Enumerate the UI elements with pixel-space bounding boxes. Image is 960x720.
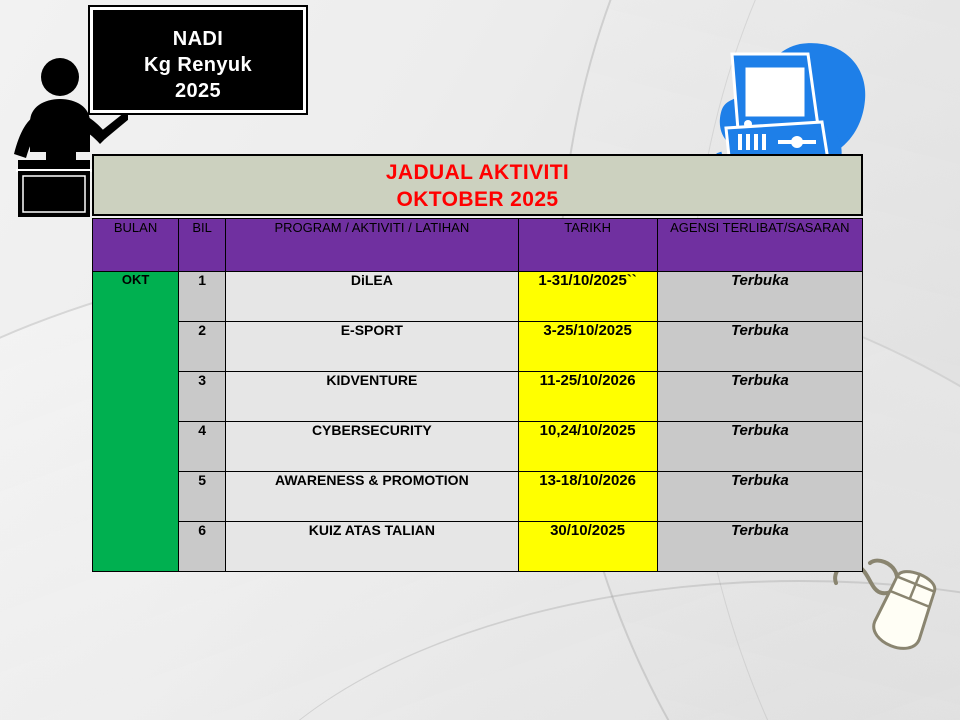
- cell-date: 30/10/2025: [518, 522, 657, 572]
- cell-program: E-SPORT: [226, 322, 518, 372]
- cell-bil: 3: [179, 372, 226, 422]
- activity-schedule-table: BULAN BIL PROGRAM / AKTIVITI / LATIHAN T…: [92, 218, 863, 572]
- table-header-row: BULAN BIL PROGRAM / AKTIVITI / LATIHAN T…: [93, 219, 863, 272]
- schedule-title-bar: JADUAL AKTIVITI OKTOBER 2025: [92, 154, 863, 216]
- blackboard-sign: NADI Kg Renyuk 2025: [90, 7, 306, 113]
- cell-program: KIDVENTURE: [226, 372, 518, 422]
- cell-date: 3-25/10/2025: [518, 322, 657, 372]
- cell-date: 11-25/10/2026: [518, 372, 657, 422]
- cell-agency: Terbuka: [657, 372, 862, 422]
- cell-program: KUIZ ATAS TALIAN: [226, 522, 518, 572]
- cell-date: 10,24/10/2025: [518, 422, 657, 472]
- table-row: 4 CYBERSECURITY 10,24/10/2025 Terbuka: [93, 422, 863, 472]
- cell-date: 1-31/10/2025``: [518, 272, 657, 322]
- blackboard-line-1: NADI: [93, 26, 303, 52]
- table-body: OKT 1 DiLEA 1-31/10/2025`` Terbuka 2 E-S…: [93, 272, 863, 572]
- cell-program: AWARENESS & PROMOTION: [226, 472, 518, 522]
- cell-agency: Terbuka: [657, 322, 862, 372]
- blackboard-line-3: 2025: [93, 78, 303, 104]
- cell-bil: 5: [179, 472, 226, 522]
- header-bil: BIL: [179, 219, 226, 272]
- cell-date: 13-18/10/2026: [518, 472, 657, 522]
- schedule-title-line-1: JADUAL AKTIVITI: [386, 159, 569, 186]
- schedule-title-line-2: OKTOBER 2025: [397, 186, 559, 213]
- cell-agency: Terbuka: [657, 272, 862, 322]
- header-program: PROGRAM / AKTIVITI / LATIHAN: [226, 219, 518, 272]
- cell-program: CYBERSECURITY: [226, 422, 518, 472]
- schedule-table-container: JADUAL AKTIVITI OKTOBER 2025 BULAN BIL P…: [92, 154, 863, 572]
- cell-bil: 2: [179, 322, 226, 372]
- cell-program: DiLEA: [226, 272, 518, 322]
- header-bulan: BULAN: [93, 219, 179, 272]
- cell-agency: Terbuka: [657, 472, 862, 522]
- cell-agency: Terbuka: [657, 522, 862, 572]
- slide-canvas: NADI Kg Renyuk 2025: [0, 0, 960, 720]
- cell-bil: 1: [179, 272, 226, 322]
- header-tarikh: TARIKH: [518, 219, 657, 272]
- cell-month: OKT: [93, 272, 179, 572]
- table-row: 6 KUIZ ATAS TALIAN 30/10/2025 Terbuka: [93, 522, 863, 572]
- cell-bil: 6: [179, 522, 226, 572]
- table-header: BULAN BIL PROGRAM / AKTIVITI / LATIHAN T…: [93, 219, 863, 272]
- cell-bil: 4: [179, 422, 226, 472]
- header-agensi: AGENSI TERLIBAT/SASARAN: [657, 219, 862, 272]
- blackboard-line-2: Kg Renyuk: [93, 52, 303, 78]
- table-row: 3 KIDVENTURE 11-25/10/2026 Terbuka: [93, 372, 863, 422]
- table-row: 2 E-SPORT 3-25/10/2025 Terbuka: [93, 322, 863, 372]
- cell-agency: Terbuka: [657, 422, 862, 472]
- table-row: OKT 1 DiLEA 1-31/10/2025`` Terbuka: [93, 272, 863, 322]
- table-row: 5 AWARENESS & PROMOTION 13-18/10/2026 Te…: [93, 472, 863, 522]
